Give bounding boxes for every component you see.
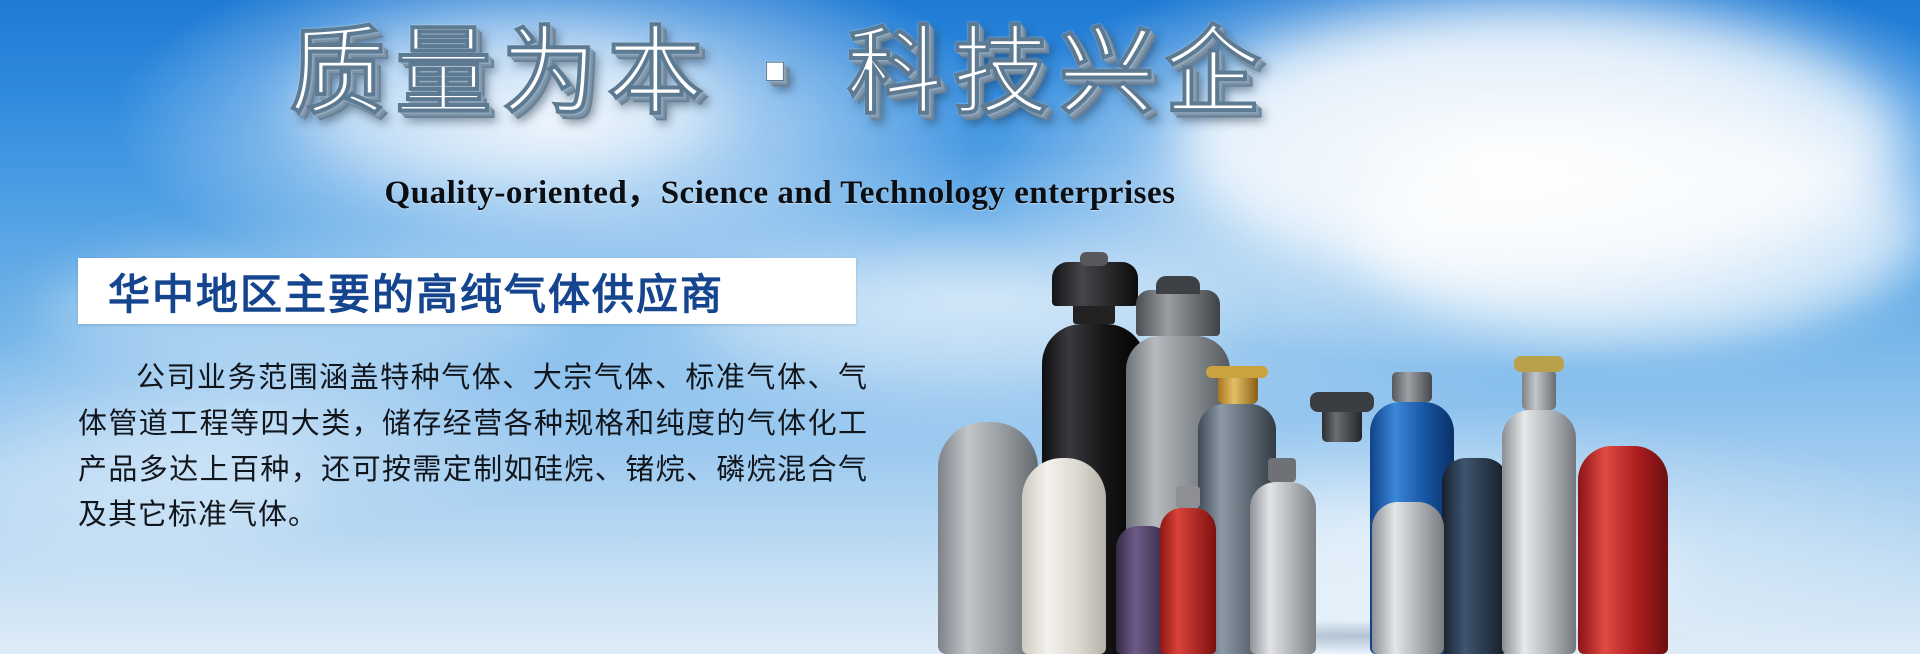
green-cylinder — [1304, 442, 1380, 654]
promotional-banner: 质量为本 · 科技兴企 Quality-oriented，Science and… — [0, 0, 1920, 654]
silver-cylinder-valve — [1268, 458, 1296, 482]
red-small-cylinder — [1160, 508, 1216, 654]
steel-cylinder-brass-valve — [1218, 374, 1258, 404]
grey-cylinder-handle — [1156, 276, 1200, 294]
white-cylinder — [1022, 458, 1106, 654]
aluminium-cylinder-knob — [1514, 356, 1564, 372]
aluminium-cylinder-valve — [1522, 370, 1556, 410]
red-small-cylinder-valve — [1176, 486, 1200, 508]
dark-navy-cylinder — [1442, 458, 1508, 654]
slogan-text: 华中地区主要的高纯气体供应商 — [108, 261, 724, 322]
silver-aluminium-cylinder — [1372, 502, 1444, 654]
slogan-highlight-box: 华中地区主要的高纯气体供应商 — [78, 258, 856, 324]
red-tall-cylinder — [1578, 446, 1668, 654]
green-cylinder-neck — [1322, 408, 1362, 442]
steel-cylinder-valve-wheel — [1206, 366, 1268, 378]
blue-cylinder-valve — [1392, 372, 1432, 402]
green-cylinder-cap — [1310, 392, 1374, 412]
gas-cylinder-product-photo — [930, 150, 1920, 654]
black-cylinder-cap — [1052, 262, 1138, 306]
black-cylinder-valve-knob — [1080, 252, 1108, 266]
aluminium-cylinder — [1502, 410, 1576, 654]
banner-headline: 质量为本 · 科技兴企 — [0, 22, 1560, 124]
banner-description-paragraph: 公司业务范围涵盖特种气体、大宗气体、标准气体、气体管道工程等四大类，储存经营各种… — [78, 355, 868, 538]
grey-cylinder-cap — [1136, 290, 1220, 336]
